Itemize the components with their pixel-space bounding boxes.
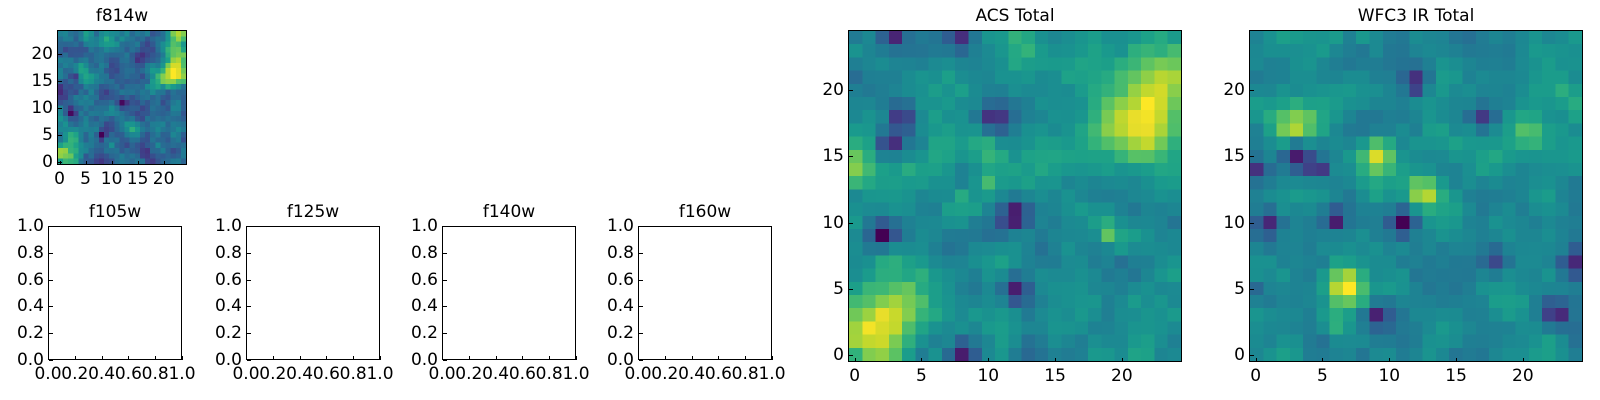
xtick-mark: [718, 356, 719, 360]
ytick-label: 0.0: [396, 350, 438, 370]
ytick-mark: [443, 333, 447, 334]
ytick-label: 0.2: [592, 323, 634, 343]
subplot-title-wfc3-ir-total: WFC3 IR Total: [1249, 6, 1583, 26]
xtick-mark: [164, 161, 165, 165]
ytick-label: 0.2: [200, 323, 242, 343]
xtick-mark: [300, 356, 301, 360]
subplot-title-f105w: f105w: [48, 202, 182, 222]
ytick-label: 0.8: [592, 243, 634, 263]
ytick-label: 1.0: [396, 216, 438, 236]
ytick-mark: [58, 54, 62, 55]
xtick-label: 15: [1426, 366, 1486, 386]
ytick-label: 20: [11, 44, 53, 64]
ytick-label: 0.8: [2, 243, 44, 263]
subplot-wfc3-ir-total: WFC3 IR Total0510152005101520: [1203, 4, 1589, 388]
xtick-mark: [353, 356, 354, 360]
ytick-mark: [849, 223, 853, 224]
ytick-label: 0: [802, 345, 844, 365]
xtick-mark: [1523, 358, 1524, 362]
ytick-label: 0: [1203, 345, 1245, 365]
xtick-mark: [665, 356, 666, 360]
ytick-label: 0.0: [592, 350, 634, 370]
xtick-mark: [549, 356, 550, 360]
xtick-mark: [128, 356, 129, 360]
ytick-mark: [49, 253, 53, 254]
xtick-mark: [380, 356, 381, 360]
ytick-mark: [443, 360, 447, 361]
plot-area-f160w[interactable]: [638, 226, 772, 360]
ytick-mark: [639, 253, 643, 254]
xtick-label: 1.0: [742, 364, 802, 384]
subplot-title-f125w: f125w: [246, 202, 380, 222]
ytick-mark: [639, 333, 643, 334]
ytick-mark: [1250, 156, 1254, 157]
ytick-mark: [49, 360, 53, 361]
ytick-mark: [247, 333, 251, 334]
ytick-label: 0.4: [2, 296, 44, 316]
ytick-label: 15: [11, 71, 53, 91]
ytick-label: 15: [802, 146, 844, 166]
ytick-mark: [443, 226, 447, 227]
xtick-mark: [138, 161, 139, 165]
ytick-mark: [849, 289, 853, 290]
ytick-label: 0.4: [200, 296, 242, 316]
xtick-mark: [522, 356, 523, 360]
xtick-mark: [155, 356, 156, 360]
xtick-mark: [273, 356, 274, 360]
xtick-mark: [326, 356, 327, 360]
ytick-label: 20: [802, 80, 844, 100]
xtick-mark: [182, 356, 183, 360]
ytick-label: 10: [1203, 213, 1245, 233]
subplot-f814w: f814w0510152005101520: [11, 4, 193, 191]
ytick-mark: [639, 360, 643, 361]
ytick-label: 5: [802, 279, 844, 299]
xtick-label: 15: [1025, 366, 1085, 386]
ytick-label: 10: [802, 213, 844, 233]
xtick-mark: [921, 358, 922, 362]
ytick-mark: [849, 355, 853, 356]
xtick-label: 5: [891, 366, 951, 386]
plot-area-wfc3-ir-total[interactable]: [1249, 30, 1583, 362]
ytick-mark: [58, 81, 62, 82]
ytick-mark: [1250, 90, 1254, 91]
ytick-mark: [849, 90, 853, 91]
ytick-label: 0.8: [200, 243, 242, 263]
xtick-label: 20: [1092, 366, 1152, 386]
xtick-mark: [1256, 358, 1257, 362]
subplot-f105w: f105w0.00.20.40.60.81.00.00.20.40.60.81.…: [2, 200, 188, 386]
plot-area-f140w[interactable]: [442, 226, 576, 360]
ytick-label: 5: [1203, 279, 1245, 299]
ytick-mark: [1250, 355, 1254, 356]
ytick-label: 0.8: [396, 243, 438, 263]
plot-area-f125w[interactable]: [246, 226, 380, 360]
subplot-title-f140w: f140w: [442, 202, 576, 222]
xtick-mark: [496, 356, 497, 360]
ytick-mark: [1250, 223, 1254, 224]
xtick-mark: [1055, 358, 1056, 362]
xtick-label: 20: [134, 169, 194, 189]
ytick-mark: [58, 135, 62, 136]
ytick-mark: [247, 253, 251, 254]
ytick-label: 0.2: [396, 323, 438, 343]
ytick-label: 0.0: [2, 350, 44, 370]
xtick-label: 10: [958, 366, 1018, 386]
ytick-label: 0.4: [592, 296, 634, 316]
heatmap-image-acs-total: [849, 31, 1181, 361]
xtick-mark: [772, 356, 773, 360]
xtick-label: 5: [1292, 366, 1352, 386]
xtick-mark: [1122, 358, 1123, 362]
ytick-label: 0.0: [200, 350, 242, 370]
subplot-title-acs-total: ACS Total: [848, 6, 1182, 26]
xtick-label: 20: [1493, 366, 1553, 386]
matplotlib-figure: f814w0510152005101520f105w0.00.20.40.60.…: [0, 0, 1600, 400]
xtick-mark: [745, 356, 746, 360]
xtick-mark: [112, 161, 113, 165]
ytick-mark: [49, 280, 53, 281]
ytick-mark: [247, 280, 251, 281]
xtick-mark: [692, 356, 693, 360]
ytick-mark: [443, 280, 447, 281]
xtick-label: 0: [825, 366, 885, 386]
ytick-mark: [49, 306, 53, 307]
plot-area-f814w[interactable]: [57, 30, 187, 165]
ytick-mark: [247, 360, 251, 361]
ytick-label: 20: [1203, 80, 1245, 100]
ytick-label: 0.6: [200, 270, 242, 290]
ytick-label: 0.6: [2, 270, 44, 290]
ytick-mark: [58, 108, 62, 109]
subplot-f125w: f125w0.00.20.40.60.81.00.00.20.40.60.81.…: [200, 200, 386, 386]
heatmap-image-wfc3-ir-total: [1250, 31, 1582, 361]
ytick-mark: [443, 253, 447, 254]
ytick-mark: [58, 162, 62, 163]
xtick-mark: [988, 358, 989, 362]
ytick-label: 0.4: [396, 296, 438, 316]
ytick-label: 0.6: [592, 270, 634, 290]
xtick-mark: [855, 358, 856, 362]
xtick-mark: [1389, 358, 1390, 362]
ytick-mark: [49, 333, 53, 334]
plot-area-f105w[interactable]: [48, 226, 182, 360]
ytick-label: 1.0: [2, 216, 44, 236]
xtick-mark: [102, 356, 103, 360]
xtick-label: 0: [1226, 366, 1286, 386]
xtick-mark: [469, 356, 470, 360]
ytick-label: 10: [11, 98, 53, 118]
ytick-mark: [1250, 289, 1254, 290]
plot-area-acs-total[interactable]: [848, 30, 1182, 362]
subplot-f140w: f140w0.00.20.40.60.81.00.00.20.40.60.81.…: [396, 200, 582, 386]
ytick-label: 0: [11, 152, 53, 172]
ytick-mark: [639, 306, 643, 307]
subplot-acs-total: ACS Total0510152005101520: [802, 4, 1188, 388]
ytick-mark: [639, 280, 643, 281]
ytick-label: 1.0: [200, 216, 242, 236]
heatmap-image-f814w: [58, 31, 186, 164]
xtick-mark: [1322, 358, 1323, 362]
subplot-f160w: f160w0.00.20.40.60.81.00.00.20.40.60.81.…: [592, 200, 778, 386]
xtick-mark: [576, 356, 577, 360]
ytick-label: 15: [1203, 146, 1245, 166]
ytick-mark: [247, 306, 251, 307]
ytick-mark: [443, 306, 447, 307]
ytick-label: 0.6: [396, 270, 438, 290]
ytick-mark: [639, 226, 643, 227]
xtick-mark: [1456, 358, 1457, 362]
ytick-mark: [49, 226, 53, 227]
xtick-label: 10: [1359, 366, 1419, 386]
ytick-label: 0.2: [2, 323, 44, 343]
ytick-mark: [247, 226, 251, 227]
subplot-title-f160w: f160w: [638, 202, 772, 222]
ytick-label: 1.0: [592, 216, 634, 236]
xtick-mark: [75, 356, 76, 360]
ytick-mark: [849, 156, 853, 157]
subplot-title-f814w: f814w: [57, 6, 187, 26]
ytick-label: 5: [11, 125, 53, 145]
xtick-mark: [86, 161, 87, 165]
